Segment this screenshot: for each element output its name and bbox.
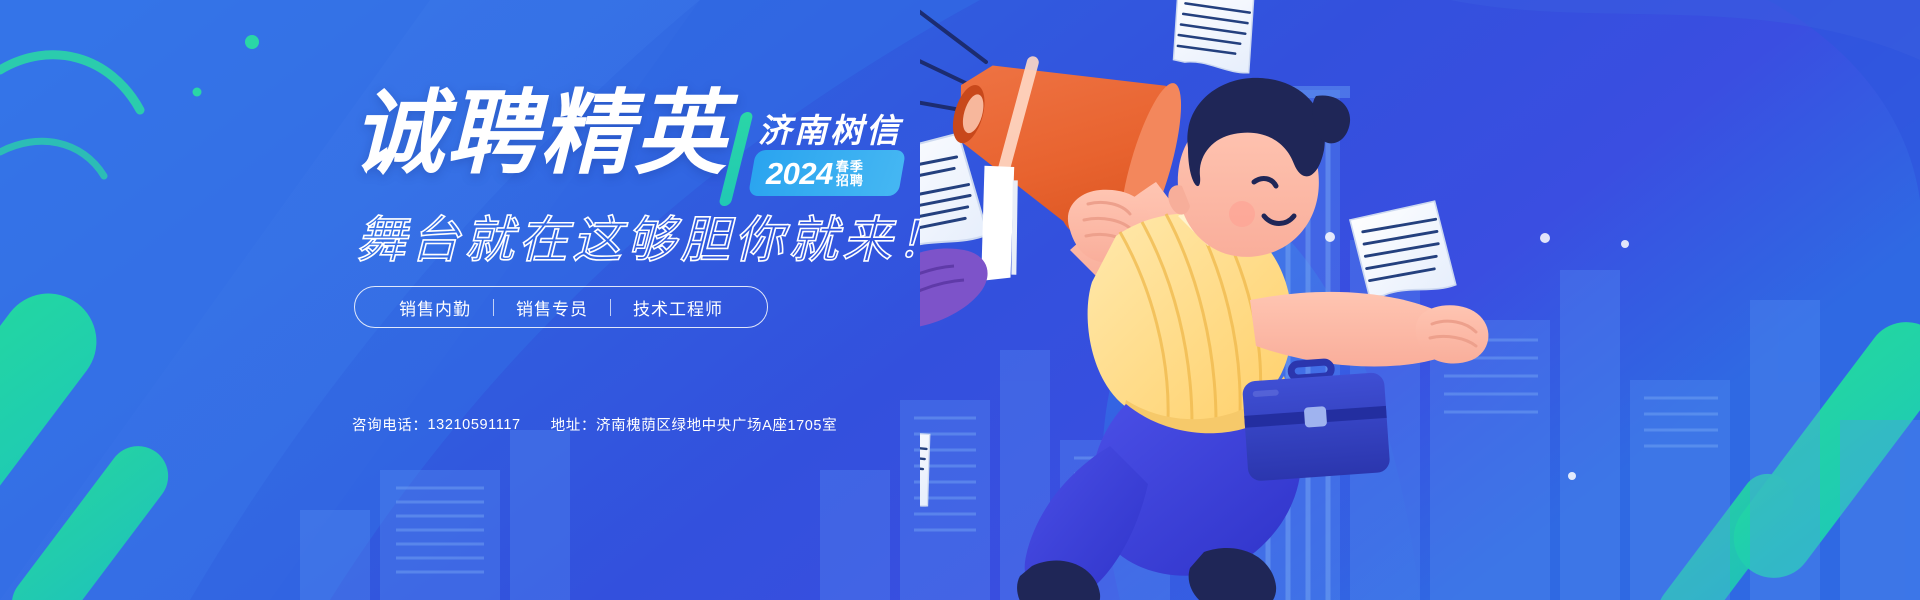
page-subtitle: 舞台就在这够胆你就来！ (356, 200, 950, 272)
company-name: 济南树信 (758, 104, 902, 152)
headline-row: 诚聘精英 济南树信 2024 春季 招聘 (352, 96, 1072, 206)
resume-document-icon (1349, 200, 1456, 298)
badge-sub-line-1: 春季 (836, 159, 864, 173)
contact-info: 咨询电话： 13210591117 地址： 济南槐荫区绿地中央广场A座1705室 (352, 414, 837, 435)
page-title: 诚聘精英 (352, 88, 728, 180)
head (1168, 78, 1350, 257)
address-label: 地址： (551, 414, 596, 435)
campaign-badge-group: 济南树信 2024 春季 招聘 (752, 108, 992, 208)
address-value: 济南槐荫区绿地中央广场A座1705室 (596, 414, 837, 435)
job-tag-0[interactable]: 销售内勤 (377, 295, 493, 320)
job-tag-2[interactable]: 技术工程师 (611, 295, 745, 320)
badge-sub-line-2: 招聘 (836, 173, 864, 187)
phone-value: 13210591117 (428, 417, 521, 433)
badge-year: 2024 (766, 158, 833, 189)
recruitment-banner: 诚聘精英 济南树信 2024 春季 招聘 舞台就在这够胆你就来！ 销售内勤 (0, 0, 1920, 600)
job-tag-bar: 销售内勤 销售专员 技术工程师 (354, 286, 768, 328)
phone-label: 咨询电话： (352, 414, 428, 435)
banner-content: 诚聘精英 济南树信 2024 春季 招聘 舞台就在这够胆你就来！ 销售内勤 (352, 96, 1072, 516)
year-badge: 2024 春季 招聘 (748, 150, 906, 196)
resume-document-icon (1164, 0, 1265, 76)
job-tag-1[interactable]: 销售专员 (494, 295, 610, 320)
